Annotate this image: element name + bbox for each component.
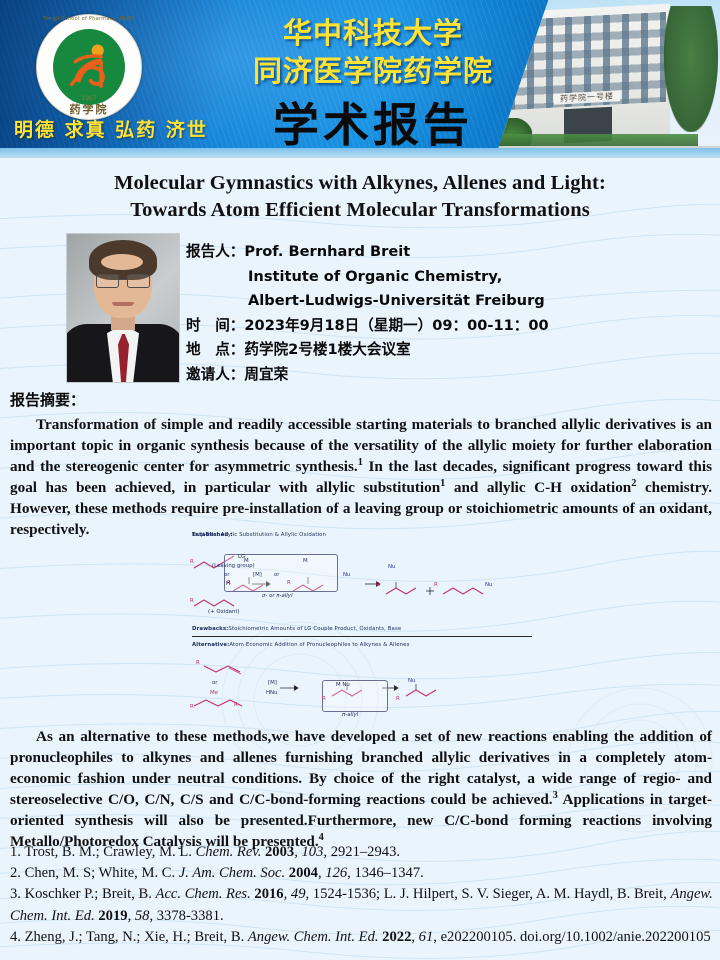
ref4-num: 4.	[10, 929, 25, 945]
place-label: 地 点：	[186, 341, 244, 358]
label-metal-catalyst-2: [M]	[268, 680, 277, 686]
poster-page: 药学院一号楼 Tongji School of Pharmacy, HUST 1…	[0, 0, 720, 960]
school-logo-icon: Tongji School of Pharmacy, HUST 1907 药学院	[36, 14, 142, 120]
label-R-2: R	[190, 598, 194, 604]
label-R-1: R	[190, 559, 194, 565]
ref1-volume: , 103	[294, 844, 323, 860]
drawbacks-text: Stoichiometric Amounts of LG Couple Prod…	[228, 626, 401, 632]
ref4-authors: Zheng, J.; Tang, N.; Xie, H.; Breit, B.	[25, 929, 248, 945]
ref1-pages: , 2921–2943.	[323, 844, 400, 860]
talk-title-line2: Towards Atom Efficient Molecular Transfo…	[0, 197, 720, 224]
time-label: 时 间：	[186, 317, 244, 334]
reaction-scheme-figure: Established :Tsuji-Trost Allylic Substit…	[190, 532, 594, 720]
alternative-label: Alternative:	[192, 642, 229, 648]
abstract-paragraph-2: As an alternative to these methods,we ha…	[10, 726, 712, 853]
label-R-box-lower: R	[322, 696, 326, 702]
abstract-heading: 报告摘要：	[10, 389, 85, 410]
ref3-year: 2016	[251, 886, 284, 902]
ref4-journal: Angew. Chem. Int. Ed.	[248, 929, 379, 945]
label-metal-catalyst-1: [M]	[253, 572, 262, 578]
p1-part-c: and allylic C-H oxidation	[445, 479, 631, 496]
label-R-allene-2: R	[234, 702, 238, 708]
ref2-authors: Chen, M. S; White, M. C.	[25, 865, 179, 881]
affiliation-row-2: Albert-Ludwigs-Universität Freiburg	[186, 289, 710, 314]
label-R-box-2: R	[287, 580, 291, 586]
host-row: 邀请人：周宜荣	[186, 363, 710, 388]
affiliation-row-1: Institute of Organic Chemistry,	[186, 265, 710, 290]
label-or-lower: or	[212, 680, 218, 686]
time-value: 2023年9月18日（星期一）09：00-11：00	[244, 317, 548, 334]
label-R-box-1: R	[227, 580, 231, 586]
reference-item-2: 2. Chen, M. S; White, M. C. J. Am. Chem.…	[10, 863, 716, 884]
ref3-year-2: 2019	[95, 908, 128, 924]
drawbacks-label: Drawbacks:	[192, 626, 228, 632]
tree-right	[664, 6, 718, 132]
label-R-lower-product: R	[396, 696, 400, 702]
ref3-authors: Koschker P.; Breit, B.	[25, 886, 156, 902]
label-M-2: M	[303, 558, 308, 564]
abstract-paragraph-1: Transformation of simple and readily acc…	[10, 414, 712, 541]
scheme-pi-allyl-box	[322, 680, 388, 712]
ref2-year: 2004	[285, 865, 318, 881]
university-name-line2: 同济医学院药学院	[238, 52, 508, 90]
university-name-line1: 华中科技大学	[238, 14, 508, 52]
ref3-volume-2: , 58	[128, 908, 150, 924]
label-Nu-reagent: Nu	[343, 572, 350, 578]
talk-title: Molecular Gymnastics with Alkynes, Allen…	[0, 170, 720, 224]
speaker-portrait-photo	[66, 233, 180, 383]
label-box-or: or	[274, 572, 280, 578]
label-R-alkyne: R	[196, 660, 200, 666]
label-pi-allyl: π-allyl	[342, 712, 358, 718]
references-list: 1. Trost, B. M.; Crawley, M. L. Chem. Re…	[10, 842, 716, 948]
reference-item-1: 1. Trost, B. M.; Crawley, M. L. Chem. Re…	[10, 842, 716, 863]
presenter-name: Prof. Bernhard Breit	[244, 243, 410, 260]
alternative-text: Atom Economic Addition of Pronucleophile…	[229, 642, 409, 648]
ref1-year: 2003	[261, 844, 294, 860]
ref4-year: 2022	[379, 929, 412, 945]
portrait-mouth	[112, 302, 134, 306]
label-HNu: HNu	[266, 690, 278, 696]
ref3-pages-2: , 3378-3381.	[149, 908, 223, 924]
ref1-authors: Trost, B. M.; Crawley, M. L.	[24, 844, 195, 860]
reference-item-4: 4. Zheng, J.; Tang, N.; Xie, H.; Breit, …	[10, 927, 716, 948]
host-value: 周宜荣	[244, 366, 288, 383]
reference-item-3: 3. Koschker P.; Breit, B. Acc. Chem. Res…	[10, 884, 716, 926]
ref2-num: 2.	[10, 865, 25, 881]
label-Nu-product-2: Nu	[485, 582, 492, 588]
established-label: Established :	[192, 532, 233, 538]
label-M-Nu: M Nu	[336, 682, 350, 688]
label-or-top: or	[224, 572, 230, 578]
talk-title-line1: Molecular Gymnastics with Alkynes, Allen…	[0, 170, 720, 197]
ref4-volume: , 61	[411, 929, 433, 945]
ref1-journal: Chem. Rev.	[196, 844, 262, 860]
ref1-num: 1.	[10, 844, 24, 860]
ref4-pages: , e202200105. doi.org/10.1002/anie.20220…	[433, 929, 710, 945]
label-R-product-1: R	[376, 582, 380, 588]
logo-runner-figure-icon	[63, 41, 115, 93]
school-motto: 明德 求真 弘药 济世	[14, 115, 208, 142]
place-value: 药学院2号楼1楼大会议室	[244, 341, 410, 358]
ref2-volume: , 126	[318, 865, 347, 881]
logo-top-text: Tongji School of Pharmacy, HUST	[36, 16, 142, 22]
report-title-heading: 学术报告	[238, 96, 508, 154]
presenter-row: 报告人：Prof. Bernhard Breit	[186, 240, 710, 265]
scheme-divider-rule	[192, 636, 532, 637]
label-Me-allene: Me	[210, 690, 218, 696]
label-sigma-pi-allyl: σ- or π-allyl	[262, 593, 292, 599]
host-label: 邀请人：	[186, 366, 244, 383]
ref3-journal: Acc. Chem. Res.	[156, 886, 251, 902]
ref2-pages: , 1346–1347.	[347, 865, 424, 881]
label-M-1: M	[244, 558, 249, 564]
label-Nu-lower-product: Nu	[408, 678, 415, 684]
label-Nu-product-1: Nu	[388, 564, 395, 570]
label-oxidant: (+ Oxidant)	[208, 609, 240, 615]
university-name-block: 华中科技大学 同济医学院药学院	[238, 14, 508, 90]
speaker-info-block: 报告人：Prof. Bernhard Breit Institute of Or…	[186, 240, 710, 387]
ref3-volume: , 49	[284, 886, 306, 902]
ref3-num: 3.	[10, 886, 25, 902]
scheme-drawbacks-heading: Drawbacks:Stoichiometric Amounts of LG C…	[192, 626, 401, 632]
presenter-label: 报告人：	[186, 243, 244, 260]
ref3-pages: , 1524-1536; L. J. Hilpert, S. V. Sieger…	[306, 886, 671, 902]
scheme-alternative-heading: Alternative:Atom Economic Addition of Pr…	[192, 642, 409, 648]
scheme-established-heading: Established :Tsuji-Trost Allylic Substit…	[192, 532, 326, 538]
label-R-product-2: R	[434, 582, 438, 588]
ref2-journal: J. Am. Chem. Soc.	[179, 865, 285, 881]
time-row: 时 间：2023年9月18日（星期一）09：00-11：00	[186, 314, 710, 339]
portrait-glasses-icon	[95, 274, 151, 287]
scheme-lower-structures	[190, 654, 594, 720]
label-R-allene-1: R	[190, 704, 194, 710]
place-row: 地 点：药学院2号楼1楼大会议室	[186, 338, 710, 363]
